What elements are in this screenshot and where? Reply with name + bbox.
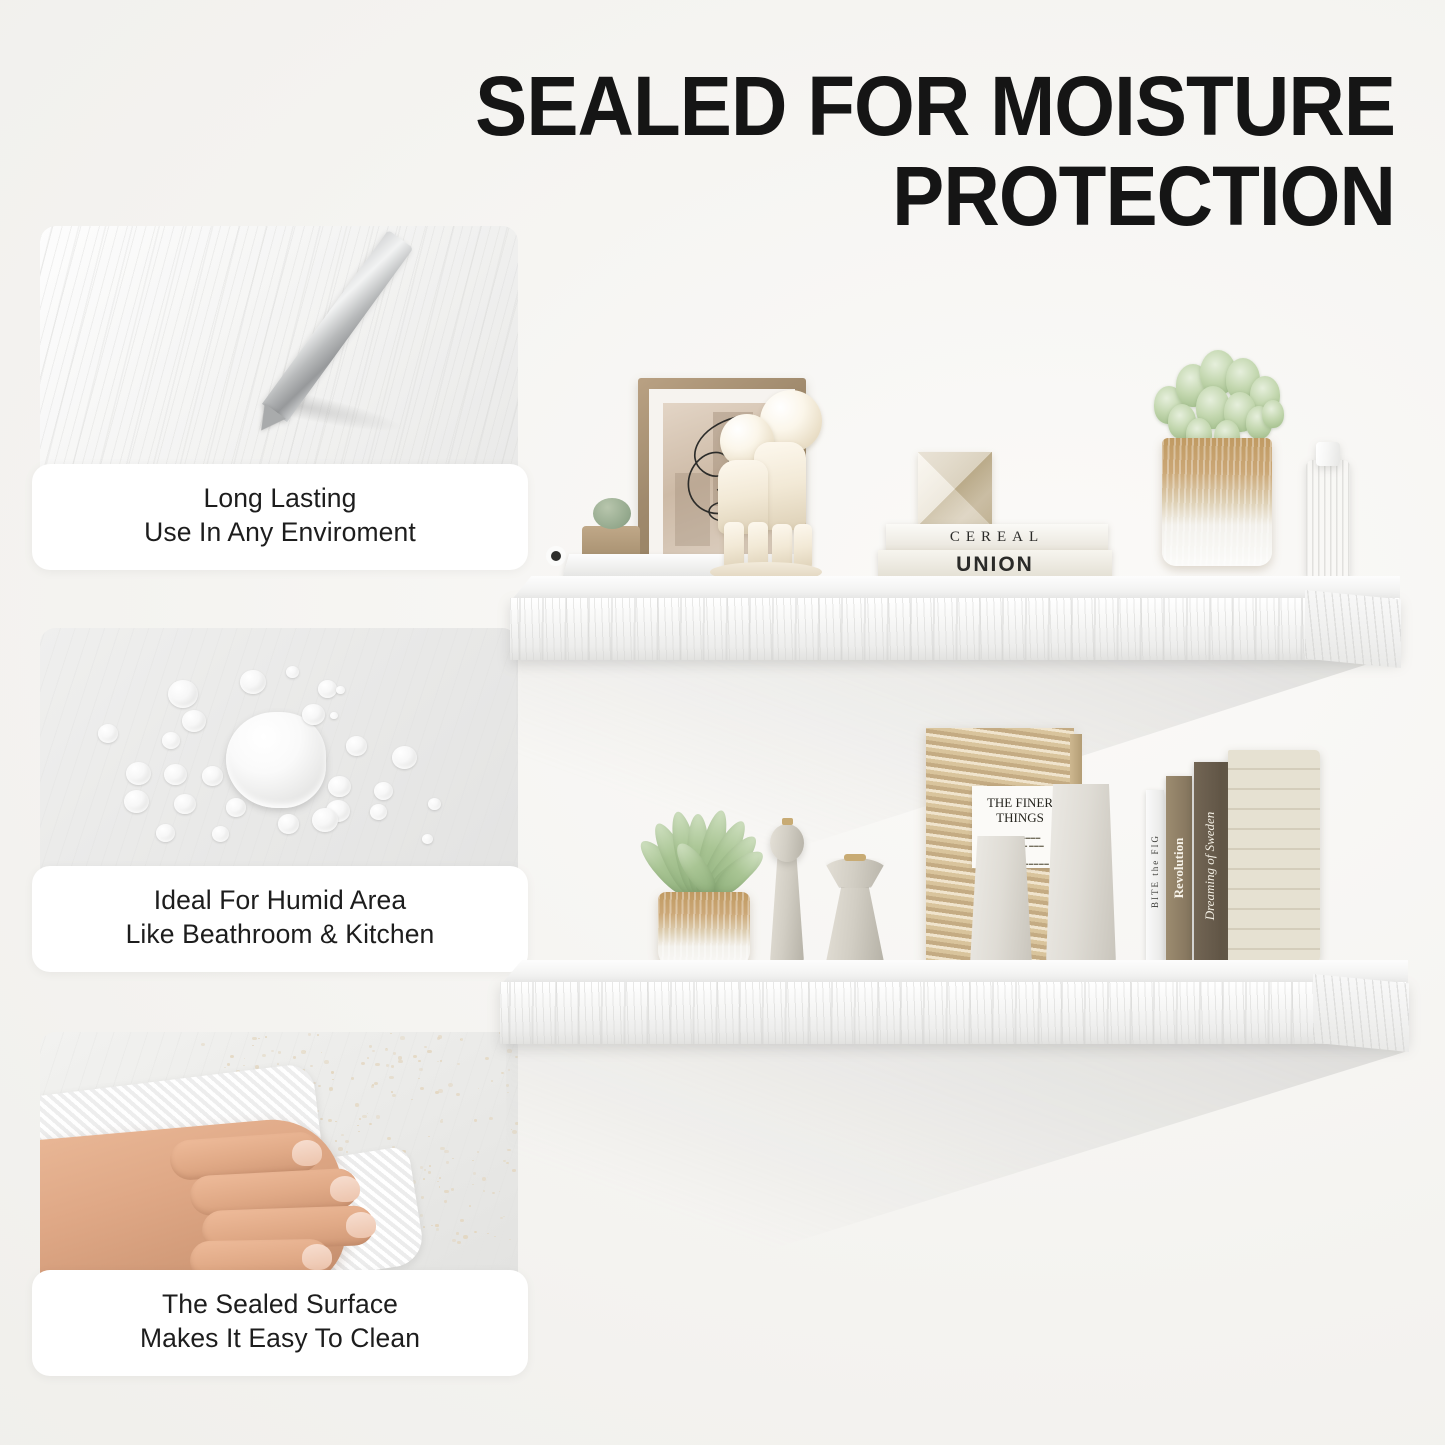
thick-cream-bound-volume [1228, 750, 1320, 962]
crumb [435, 1224, 438, 1227]
succulent-foliage [1146, 342, 1286, 452]
fingernail [330, 1176, 360, 1202]
crumb [252, 1045, 254, 1047]
book-spine-dreaming: Dreaming of Sweden [1194, 762, 1228, 962]
crumb [361, 1062, 365, 1065]
crumb [262, 1054, 266, 1057]
water-droplet [202, 766, 223, 786]
crumb [391, 1065, 394, 1068]
crumb [345, 1140, 349, 1143]
water-droplet [286, 666, 299, 678]
crumb [321, 1052, 322, 1053]
crumb [439, 1177, 441, 1178]
book-spine-label: Dreaming of Sweden [1202, 766, 1218, 966]
agave-plant-in-gold-white-pot [638, 798, 768, 968]
water-droplet [168, 680, 198, 708]
crumb [419, 1068, 423, 1071]
feature-caption-card: Ideal For Humid Area Like Beathroom & Ki… [32, 866, 528, 972]
crumb [420, 1087, 424, 1090]
caption-line-2: Use In Any Enviroment [46, 516, 514, 550]
crumb [375, 1063, 379, 1067]
crumb [420, 1214, 424, 1217]
crumb [423, 1178, 426, 1180]
book-spine-label: UNION [878, 553, 1112, 577]
crumb [331, 1071, 335, 1074]
crumb [431, 1225, 433, 1226]
crumb [452, 1239, 456, 1242]
succulent-in-gold-ombre-pot [1146, 342, 1286, 578]
shelf-front-woodgrain-face [500, 982, 1408, 1044]
crumb [389, 1076, 394, 1080]
crumb [351, 1077, 354, 1080]
crumb [357, 1125, 359, 1126]
crumb [318, 1085, 321, 1087]
book-spine-label: Revolution [1171, 777, 1187, 959]
crumb [427, 1050, 432, 1054]
crumb [244, 1058, 246, 1059]
crumb [429, 1165, 431, 1167]
green-pumpkin-ornament [593, 498, 631, 529]
crumb [428, 1171, 431, 1173]
crumb [308, 1033, 312, 1036]
screwdriver-on-white-wood-surface-photo [40, 226, 518, 488]
water-droplets-beading-on-surface-photo [40, 628, 518, 890]
crumb [227, 1063, 230, 1065]
crumb [372, 1050, 375, 1052]
crumb [460, 1219, 464, 1222]
caption-line-1: Ideal For Humid Area [46, 884, 514, 918]
crumb [448, 1083, 453, 1087]
water-droplet [374, 782, 393, 800]
caption-line-2: Like Beathroom & Kitchen [46, 918, 514, 952]
water-droplet [226, 798, 246, 817]
crumb [201, 1043, 205, 1047]
book-spine-label: CEREAL [886, 529, 1108, 546]
fingernail [292, 1140, 322, 1166]
crumb [301, 1050, 305, 1054]
crumb [463, 1235, 468, 1239]
crumb [444, 1200, 447, 1202]
crumb [243, 1065, 245, 1067]
crumb [355, 1103, 359, 1106]
crumb [456, 1093, 460, 1096]
crumb [440, 1120, 443, 1123]
water-droplet [312, 808, 338, 832]
crumb [271, 1050, 274, 1052]
upper-floating-shelf [510, 576, 1400, 668]
crumb [252, 1037, 257, 1041]
crumb [411, 1099, 412, 1100]
cylinder-vase-short [970, 836, 1032, 964]
crumb [367, 1113, 369, 1114]
water-droplet [428, 798, 441, 810]
crumb [446, 1161, 449, 1164]
crumb [424, 1169, 426, 1170]
pearl-couple-figurine [706, 390, 826, 580]
crumb [457, 1063, 460, 1065]
crumb [335, 1121, 337, 1122]
water-droplet [346, 736, 367, 756]
crumb [428, 1136, 430, 1138]
hand-wiping-crumbs-with-cloth-photo [40, 1032, 518, 1294]
water-droplet [370, 804, 387, 820]
crumb [452, 1158, 453, 1159]
crumb [332, 1079, 334, 1080]
bottle-vase-neck [1316, 442, 1340, 466]
short-taupe-candle-holder [826, 876, 884, 962]
crumb [329, 1087, 333, 1091]
candle-holder-ball-top [770, 824, 804, 862]
water-droplet [212, 826, 229, 842]
crumb [338, 1147, 342, 1151]
book-spine-label: BITE the FIG [1150, 794, 1160, 948]
crumb [346, 1151, 348, 1152]
crumb [367, 1057, 369, 1059]
headline-line-1: SEALED FOR MOISTURE [475, 59, 1395, 153]
caption-line-2: Makes It Easy To Clean [46, 1322, 514, 1356]
crumb [320, 1118, 323, 1120]
candle-holder-gold-cup [782, 818, 793, 825]
crumb [438, 1089, 442, 1093]
crumb [424, 1046, 427, 1048]
crumb [390, 1033, 392, 1035]
white-ring-bead-object [546, 546, 566, 566]
crumb [400, 1036, 404, 1040]
crumb [437, 1181, 439, 1183]
crumb [423, 1226, 426, 1228]
crumb [391, 1091, 393, 1093]
crumb [440, 1060, 442, 1061]
crumb [230, 1055, 234, 1058]
crumb [386, 1048, 387, 1049]
tall-taupe-candle-holder [770, 856, 804, 962]
crumb [317, 1034, 319, 1036]
crumb [310, 1065, 313, 1067]
water-droplet [240, 670, 266, 694]
crumb [341, 1134, 343, 1136]
gold-ombre-pot [1162, 438, 1272, 566]
crumb [386, 1064, 390, 1067]
candle-holder-gold-cup [844, 854, 866, 861]
crumb [436, 1228, 440, 1231]
crumb [376, 1115, 380, 1118]
feature-card-easy-to-clean: The Sealed Surface Makes It Easy To Clea… [40, 1032, 518, 1294]
succulent-rosette [1262, 400, 1284, 428]
crumb [224, 1067, 226, 1069]
wall-scene: CEREAL UNION [470, 150, 1445, 1400]
shelf-side-face [1305, 590, 1401, 668]
crumb [359, 1118, 361, 1120]
crumb [362, 1115, 366, 1118]
crumb [420, 1166, 423, 1169]
crumb [437, 1061, 439, 1063]
crumb [369, 1123, 372, 1125]
crumb [456, 1232, 459, 1234]
feature-caption-card: The Sealed Surface Makes It Easy To Clea… [32, 1270, 528, 1376]
candle-holder-bowl-top [822, 858, 888, 888]
crumb [438, 1035, 442, 1038]
crumb [392, 1094, 396, 1097]
crumb [328, 1119, 332, 1122]
crumb [374, 1082, 378, 1085]
book-spine-bite: BITE the FIG [1146, 790, 1164, 962]
crumb [324, 1060, 328, 1064]
cylinder-vase-tall [1046, 784, 1116, 964]
water-droplet [156, 824, 175, 842]
water-droplet [162, 732, 180, 749]
book-cereal: CEREAL [886, 524, 1108, 552]
crumb [421, 1196, 424, 1198]
shelf-side-face [1313, 974, 1409, 1052]
crumb [413, 1055, 417, 1058]
crumb [440, 1147, 444, 1151]
water-droplet [98, 724, 118, 743]
crumb [444, 1150, 449, 1154]
crumb [457, 1241, 461, 1244]
crumb [371, 1085, 374, 1087]
crumb [335, 1140, 337, 1142]
crumb [293, 1056, 296, 1059]
crumb [444, 1190, 448, 1193]
crumb [418, 1078, 420, 1080]
feature-caption-card: Long Lasting Use In Any Enviroment [32, 464, 528, 570]
crumb [439, 1186, 441, 1187]
crumb [278, 1051, 281, 1054]
crumb [398, 1056, 402, 1059]
crumb [369, 1045, 373, 1048]
crumb [393, 1052, 397, 1055]
shelf-front-woodgrain-face [510, 598, 1400, 660]
crumb [265, 1036, 267, 1038]
lower-floating-shelf [500, 960, 1408, 1056]
water-droplet [318, 680, 337, 698]
ribbed-white-bottle-vase [1306, 460, 1350, 578]
feature-card-long-lasting: Long Lasting Use In Any Enviroment [40, 226, 518, 488]
caption-line-1: Long Lasting [46, 482, 514, 516]
crumb [387, 1137, 391, 1141]
crumb [460, 1039, 462, 1040]
crumb [451, 1188, 454, 1191]
feature-card-humid-area: Ideal For Humid Area Like Beathroom & Ki… [40, 628, 518, 890]
book-spine-revolution: Revolution [1166, 776, 1192, 962]
crumb [277, 1063, 280, 1065]
crumb [258, 1038, 260, 1039]
water-droplet-large [226, 712, 326, 808]
white-woodgrain-texture [40, 226, 518, 488]
caption-line-1: The Sealed Surface [46, 1288, 514, 1322]
crumb [418, 1060, 420, 1062]
crumb [398, 1060, 402, 1063]
product-marketing-image: SEALED FOR MOISTURE PROTECTION Long Last… [0, 0, 1445, 1445]
geometric-faceted-cube-large [918, 452, 992, 526]
crumb [358, 1131, 360, 1132]
water-droplet [278, 814, 299, 834]
fingernail [302, 1244, 332, 1270]
fingernail [346, 1212, 376, 1238]
